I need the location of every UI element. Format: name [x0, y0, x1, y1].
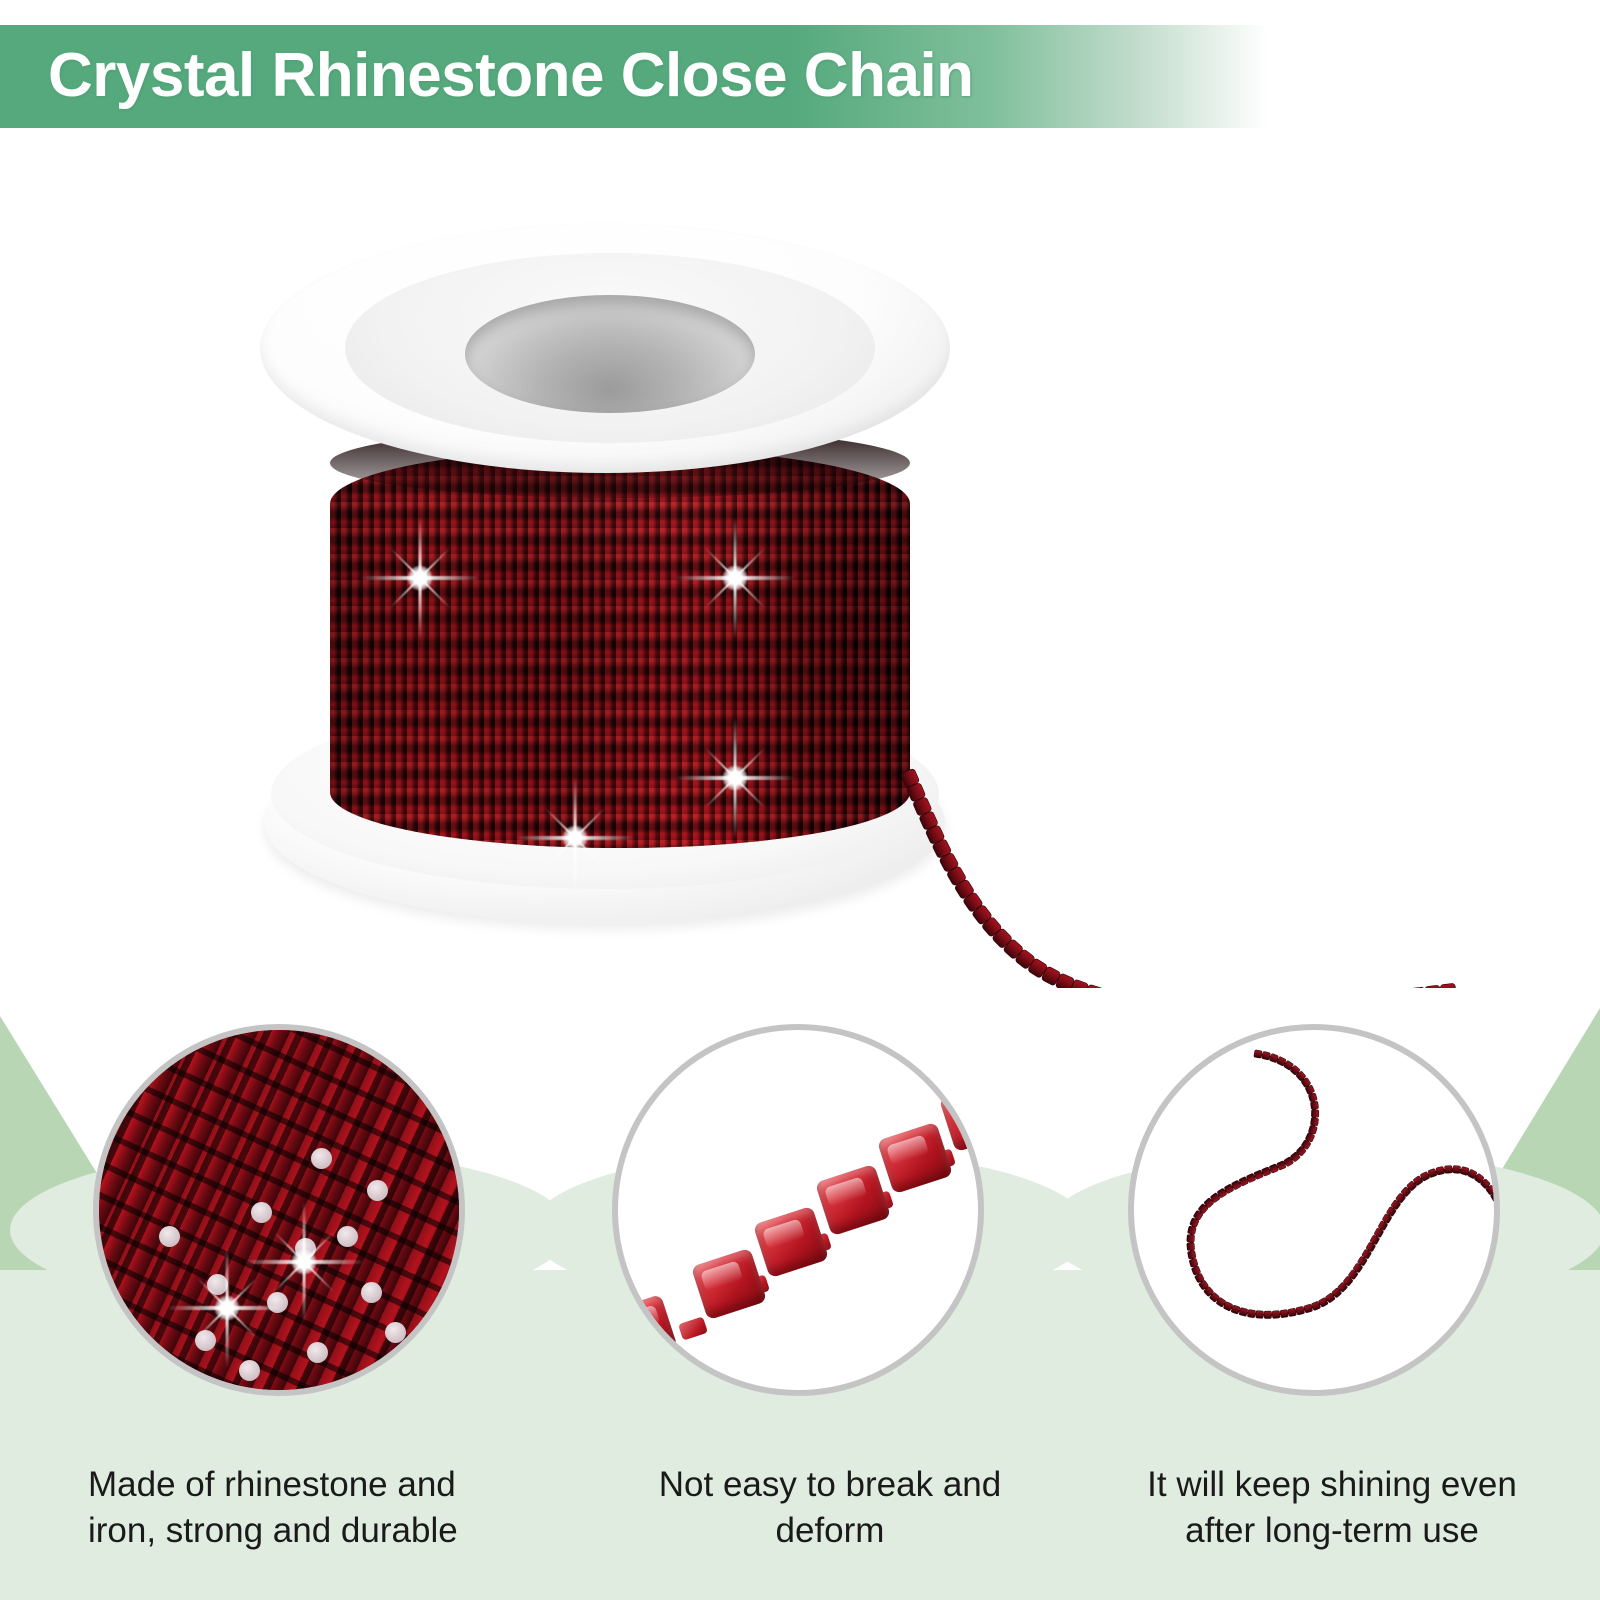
- rhinestone-stone: [1304, 1304, 1313, 1313]
- rhinestone-stone: [1254, 1050, 1263, 1059]
- rhinestone-highlight: [159, 1226, 180, 1247]
- rhinestone-highlight: [239, 1360, 260, 1381]
- rhinestone-stone: [1187, 1243, 1195, 1251]
- rhinestone-stone: [1444, 1166, 1452, 1174]
- wound-rhinestone-chain: [330, 448, 910, 848]
- feature-caption-3: It will keep shining even after long-ter…: [1112, 1462, 1552, 1554]
- rhinestone-highlight: [367, 1180, 388, 1201]
- rhinestone-cube-setting: [939, 1080, 984, 1152]
- rhinestone-stone: [1272, 1311, 1280, 1319]
- spool-center-hole: [465, 295, 755, 413]
- rhinestone-stone: [1280, 1309, 1288, 1317]
- rhinestone-highlight: [337, 1226, 358, 1247]
- hero-product-image: [0, 128, 1600, 988]
- rhinestone-closeup-texture: [99, 1030, 459, 1390]
- rhinestone-stone: [1239, 1307, 1248, 1316]
- rhinestone-highlight: [207, 1274, 228, 1295]
- rhinestone-cube-setting: [815, 1164, 891, 1236]
- rhinestone-stone: [1453, 1165, 1461, 1173]
- rhinestone-cube-setting: [753, 1206, 829, 1278]
- rhinestone-highlight: [385, 1322, 406, 1343]
- rhinestone-cube-setting: [877, 1122, 953, 1194]
- rhinestone-stone: [1189, 1258, 1198, 1267]
- rhinestone-chain-spool: [255, 223, 955, 933]
- rhinestone-stone: [1187, 1250, 1196, 1259]
- rhinestone-stone: [1310, 1117, 1318, 1125]
- rhinestone-highlight: [295, 1238, 316, 1259]
- rhinestone-highlight: [311, 1148, 332, 1169]
- chain-s-curve: [1130, 1026, 1498, 1394]
- rhinestone-highlight: [307, 1342, 328, 1363]
- feature-image-2: [612, 1024, 984, 1396]
- rhinestone-stone: [1187, 1234, 1195, 1242]
- rhinestone-highlight: [251, 1202, 272, 1223]
- spool-top-flange: [260, 223, 950, 473]
- feature-caption-1: Made of rhinestone and iron, strong and …: [88, 1462, 528, 1554]
- rhinestone-stone: [1296, 1306, 1305, 1315]
- rhinestone-stone: [1264, 1311, 1271, 1318]
- rhinestone-cube-setting: [691, 1248, 767, 1320]
- header-banner: Crystal Rhinestone Close Chain: [0, 25, 1268, 128]
- rhinestone-stone: [1288, 1308, 1297, 1317]
- feature-section: Made of rhinestone and iron, strong and …: [0, 988, 1600, 1600]
- feature-caption-2: Not easy to break and deform: [610, 1462, 1050, 1554]
- page-title: Crystal Rhinestone Close Chain: [48, 40, 974, 111]
- rhinestone-stone: [1247, 1309, 1255, 1317]
- rhinestone-stone: [1187, 1226, 1196, 1235]
- feature-image-3: [1128, 1024, 1500, 1396]
- rhinestone-stone: [1436, 1166, 1445, 1175]
- chain-link: [678, 1316, 708, 1340]
- chain-link-closeup: [618, 1030, 978, 1390]
- rhinestone-stone: [1256, 1311, 1264, 1319]
- rhinestone-cube-setting: [628, 1294, 678, 1358]
- rhinestone-highlight: [361, 1282, 382, 1303]
- rhinestone-highlight: [195, 1330, 216, 1351]
- rhinestone-highlight: [267, 1292, 288, 1313]
- rhinestone-stone: [1310, 1101, 1318, 1109]
- feature-image-1: [93, 1024, 465, 1396]
- rhinestone-stone: [1262, 1051, 1271, 1060]
- rhinestone-stone: [1311, 1110, 1318, 1117]
